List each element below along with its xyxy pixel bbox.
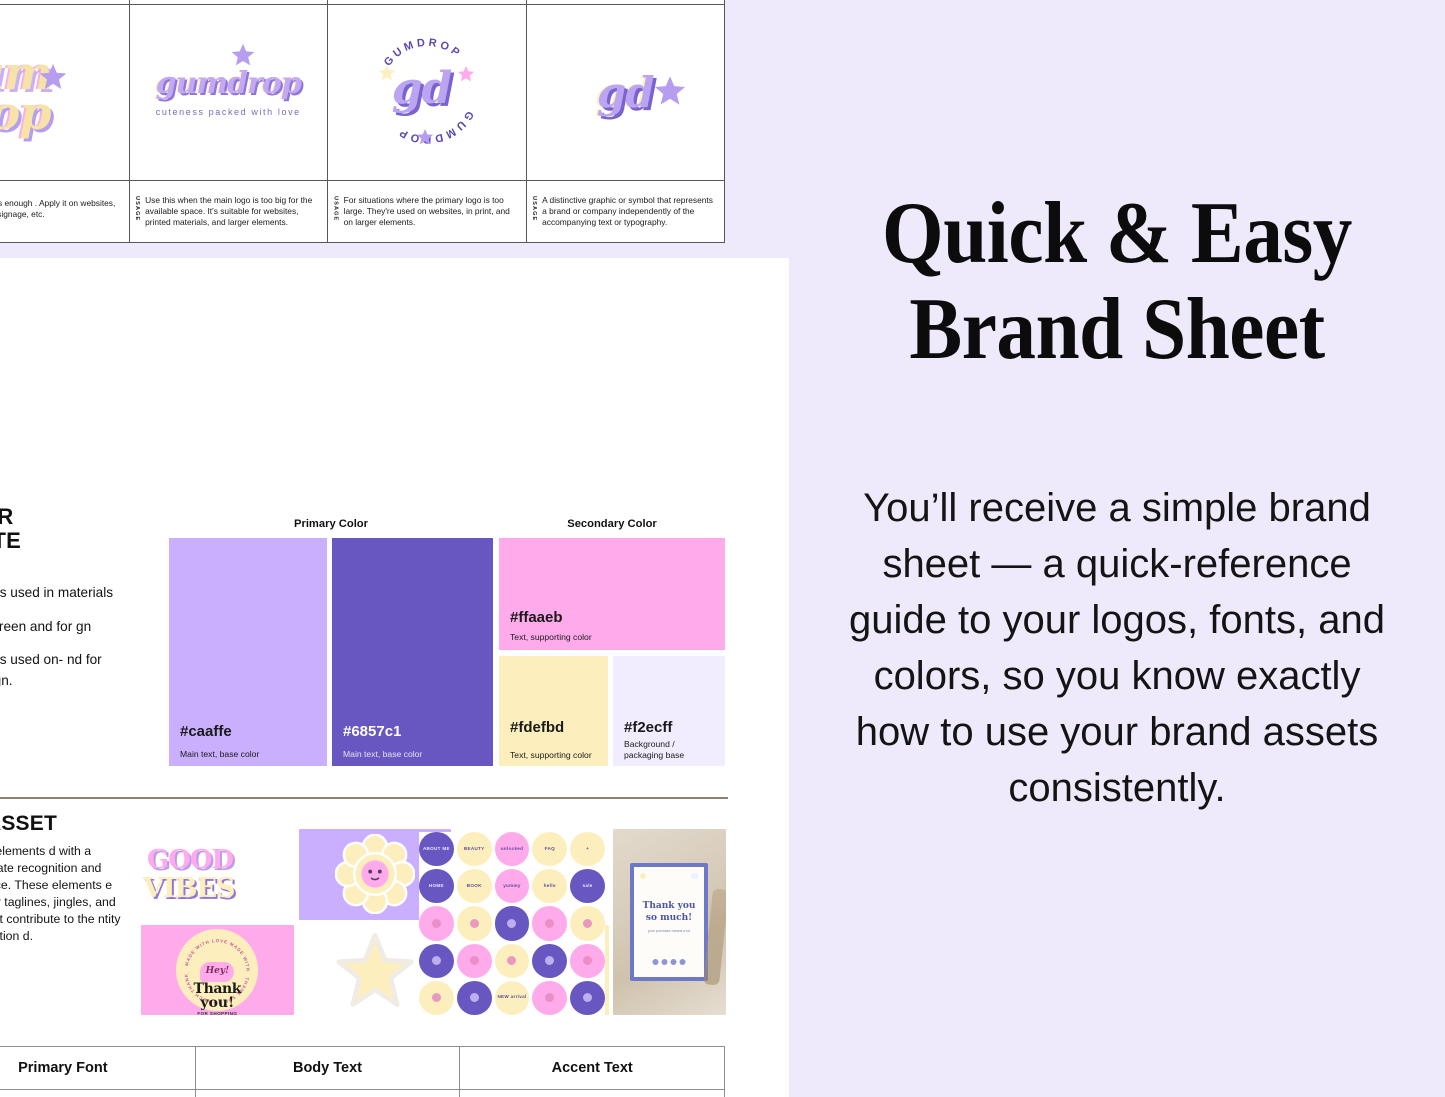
primary-logo-art: gum drop <box>0 54 51 134</box>
circle-sticker <box>495 944 530 978</box>
circle-sticker <box>495 906 530 940</box>
circle-sticker-glyph <box>470 919 479 928</box>
photo-card-line2: so much! <box>646 913 692 923</box>
circle-sticker-glyph <box>507 956 516 965</box>
circle-sticker-label: BOOK <box>467 884 482 889</box>
swatch-hex: #f2ecff <box>624 719 672 736</box>
circle-sticker-glyph <box>583 993 592 1002</box>
swatch-usage: Text, supporting color <box>510 750 594 760</box>
usage-label: USAGE <box>531 195 537 221</box>
color-swatches: Primary Color #caaffe Main text, base co… <box>169 518 725 766</box>
swatch-usage: Text, supporting color <box>510 632 592 642</box>
primary-logo-line2: drop <box>0 93 51 134</box>
thank-you-subtext: FOR SHOPPING <box>197 1011 237 1016</box>
circle-sticker-label: HOME <box>429 884 444 889</box>
photo-card-line1: Thank you <box>643 901 696 911</box>
circle-sticker-glyph <box>507 919 516 928</box>
circle-sticker <box>532 981 567 1015</box>
photo-card: Thank you so much! your purchase means a… <box>630 863 708 981</box>
circle-sticker <box>570 981 605 1015</box>
circle-sticker <box>532 944 567 978</box>
circle-sticker: NEW arrival <box>495 981 530 1015</box>
circle-sticker-glyph <box>432 993 441 1002</box>
palette-copy-line2: sed on-screen and for gn <box>0 617 130 638</box>
promo-subcopy: You’ll receive a simple brand sheet — a … <box>835 480 1399 816</box>
promo-panel: Quick & Easy Brand Sheet You’ll receive … <box>789 0 1445 1097</box>
circle-sticker-glyph <box>545 956 554 965</box>
circle-sticker-glyph <box>470 956 479 965</box>
font-table-body-row <box>0 1090 725 1097</box>
thank-you-sticker: MADE WITH LOVE MADE WITH LOVE THANK YOU … <box>141 925 294 1016</box>
logomark-art: gd <box>597 68 654 117</box>
thank-you-card-photo: Thank you so much! your purchase means a… <box>613 829 726 1015</box>
circle-sticker-label: hello <box>544 884 556 889</box>
circle-sticker-label: FAQ <box>545 847 555 852</box>
usage-text: A distinctive graphic or symbol that rep… <box>542 195 717 229</box>
star-icon <box>38 62 68 92</box>
col-primary-font: Primary Font <box>0 1047 195 1090</box>
palette-heading-line1: OUR <box>0 505 21 529</box>
svg-text:GUMDROP: GUMDROP <box>395 109 475 145</box>
swatch-usage: Main text, base color <box>343 749 422 759</box>
section-divider <box>0 797 728 799</box>
swatch-hex: #6857c1 <box>343 723 401 740</box>
secondary-logo-cell: gumdrop cuteness packed with love <box>129 5 328 181</box>
circle-sticker <box>570 906 605 940</box>
font-sample-body <box>195 1090 460 1097</box>
secondary-logo-tagline: cuteness packed with love <box>156 107 301 117</box>
submark-logo-mark: gd <box>392 63 452 114</box>
swatch-hex: #ffaaeb <box>510 609 563 626</box>
circle-sticker: HOME <box>419 869 454 903</box>
palette-heading: OUR ETTE <box>0 505 21 553</box>
logo-art-row: gum drop gumdrop cuteness packed <box>0 5 725 181</box>
good-vibes-sticker: GOOD VIBES <box>141 829 294 920</box>
swatch-f2ecff: #f2ecff Background / packaging base <box>613 656 725 766</box>
logo-usage-table: Primary Logo Secondary Logo SubMark Logo… <box>0 0 725 243</box>
circle-sticker <box>457 906 492 940</box>
brand-asset-heading: ND ASSET <box>0 812 57 836</box>
submark-logo-cell: GUMDROP GUMDROP gd <box>328 5 527 181</box>
usage-row: USAGE is first if there's enough . Apply… <box>0 181 725 243</box>
circle-sticker: sale <box>570 869 605 903</box>
primary-color-label: Primary Color <box>169 518 493 530</box>
swatch-hex: #caaffe <box>180 723 232 740</box>
circle-sticker-label: unlocked <box>501 847 524 852</box>
swatch-fdefbd: #fdefbd Text, supporting color <box>499 656 608 766</box>
swatch-hex: #fdefbd <box>510 719 564 736</box>
col-body-text: Body Text <box>195 1047 460 1090</box>
col-accent-text: Accent Text <box>460 1047 725 1090</box>
good-vibes-line2: VIBES <box>143 873 234 904</box>
usage-label: USAGE <box>134 195 140 221</box>
secondary-logo-wordmark: gumdrop <box>156 66 301 101</box>
circle-sticker <box>570 944 605 978</box>
circle-sticker: FAQ <box>532 832 567 866</box>
thank-you-line2: you! <box>200 995 234 1011</box>
circle-sticker: + <box>570 832 605 866</box>
circle-sticker <box>457 981 492 1015</box>
circle-sticker-label: sale <box>583 884 593 889</box>
swatch-6857c1: #6857c1 Main text, base color <box>332 538 493 766</box>
circle-sticker <box>419 944 454 978</box>
usage-label: USAGE <box>332 195 338 221</box>
circle-sticker-glyph <box>545 993 554 1002</box>
font-table-header-row: Primary Font Body Text Accent Text <box>0 1047 725 1090</box>
circle-sticker-glyph <box>583 956 592 965</box>
swatch-usage: Background / packaging base <box>624 739 714 760</box>
swatch-ffaaeb: #ffaaeb Text, supporting color <box>499 538 725 650</box>
promo-headline-line1: Quick & Easy <box>822 186 1412 282</box>
circle-sticker-glyph <box>583 919 592 928</box>
secondary-color-label: Secondary Color <box>499 518 725 530</box>
screenshot-root: BRAND GUIDELINES SHEET Primary Logo Seco… <box>0 0 1445 1097</box>
star-icon <box>230 42 256 68</box>
font-sample-accent <box>460 1090 725 1097</box>
logomark-cell: gd <box>526 5 725 181</box>
secondary-logo-art: gumdrop cuteness packed with love <box>156 66 301 117</box>
circle-sticker: hello <box>532 869 567 903</box>
usage-text: For situations where the primary logo is… <box>344 195 519 229</box>
brand-asset-copy: distinctive elements d with a brand that… <box>0 843 122 945</box>
circle-sticker: ABOUT ME <box>419 832 454 866</box>
good-vibes-line1: GOOD <box>147 845 233 875</box>
circle-sticker-glyph <box>432 956 441 965</box>
promo-headline-line2: Brand Sheet <box>822 282 1412 378</box>
circle-sticker-label: + <box>586 847 589 852</box>
palette-copy-line3: our code is used on- nd for web design. <box>0 650 130 691</box>
circle-sticker-label: BEAUTY <box>464 847 485 852</box>
circle-sticker-label: yummy <box>503 884 521 889</box>
star-icon <box>334 929 416 1011</box>
circle-sticker-glyph <box>432 919 441 928</box>
circle-sticker-glyph <box>470 993 479 1002</box>
circle-sticker-glyph <box>545 919 554 928</box>
flower-icon <box>335 834 415 914</box>
circle-sticker <box>419 981 454 1015</box>
brand-sheet-document: BRAND GUIDELINES SHEET Primary Logo Seco… <box>0 0 789 1097</box>
palette-copy: the colours used in materials sed on-scr… <box>0 583 130 705</box>
circle-sticker <box>419 906 454 940</box>
typography-table: Primary Font Body Text Accent Text <box>0 1046 725 1097</box>
usage-cell-logomark: USAGE A distinctive graphic or symbol th… <box>526 181 725 243</box>
circle-sticker <box>457 944 492 978</box>
circle-sticker: BEAUTY <box>457 832 492 866</box>
font-sample-primary <box>0 1090 195 1097</box>
circle-sticker: BOOK <box>457 869 492 903</box>
swatch-caaffe: #caaffe Main text, base color <box>169 538 327 766</box>
circle-sticker: unlocked <box>495 832 530 866</box>
circle-sticker: yummy <box>495 869 530 903</box>
circle-sticker-label: ABOUT ME <box>423 847 450 852</box>
circle-sticker-label: NEW arrival <box>497 995 526 1000</box>
palette-copy-line1: the colours used in materials <box>0 583 130 604</box>
palette-heading-line2: ETTE <box>0 529 21 553</box>
swatch-usage: Main text, base color <box>180 749 259 759</box>
promo-headline: Quick & Easy Brand Sheet <box>822 186 1412 378</box>
star-icon <box>653 74 687 108</box>
primary-logo-cell: gum drop <box>0 5 129 181</box>
usage-cell-primary: USAGE is first if there's enough . Apply… <box>0 181 129 243</box>
logomark-mark: gd <box>597 68 654 117</box>
submark-logo-art: GUMDROP GUMDROP gd <box>362 25 492 155</box>
usage-cell-secondary: USAGE Use this when the main logo is too… <box>129 181 328 243</box>
circle-sticker <box>532 906 567 940</box>
photo-card-subtext: your purchase means a lot <box>648 929 690 933</box>
usage-text: Use this when the main logo is too big f… <box>145 195 320 229</box>
speech-bubble-label: Hey! <box>206 966 229 976</box>
usage-cell-submark: USAGE For situations where the primary l… <box>328 181 527 243</box>
usage-text: is first if there's enough . Apply it on… <box>0 198 122 220</box>
photo-card-dots <box>653 959 686 965</box>
circle-sticker-grid: ABOUT MEBEAUTYunlockedFAQ+HOMEBOOKyummyh… <box>419 832 605 1015</box>
